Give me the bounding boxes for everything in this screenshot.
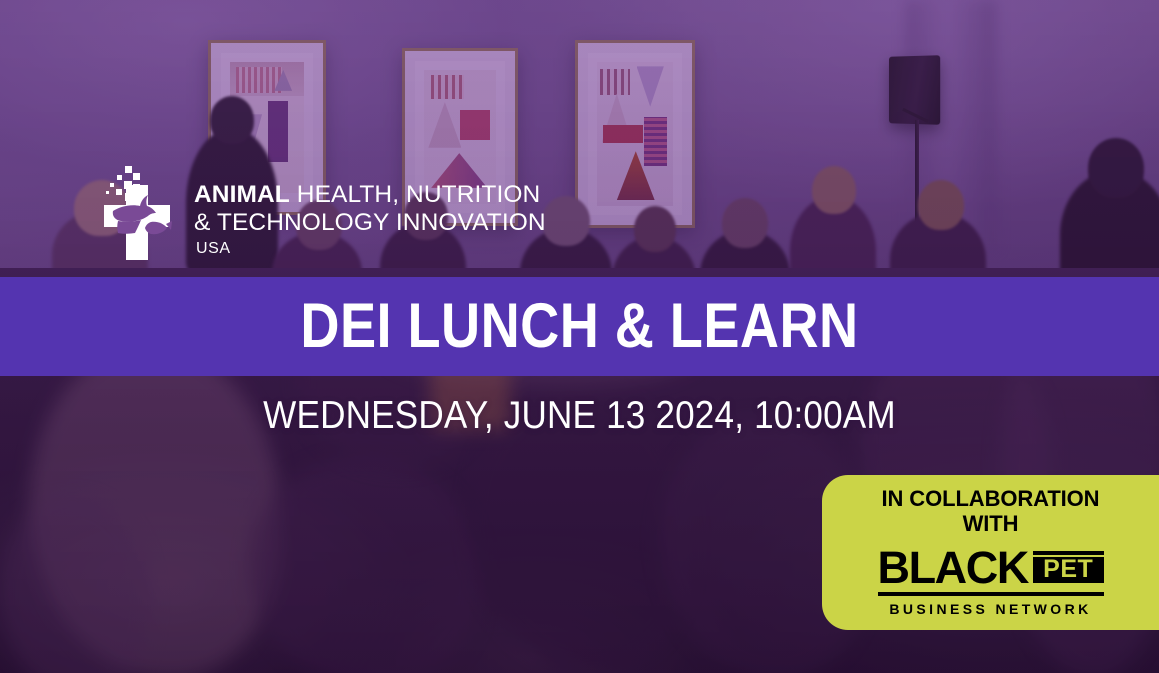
event-datetime: WEDNESDAY, JUNE 13 2024, 10:00AM: [58, 394, 1101, 438]
bp-logo-row: BLACK PET: [878, 546, 1104, 590]
bp-pet-box: PET: [1033, 557, 1104, 583]
animal-health-cross-logo-icon: [96, 164, 180, 260]
logo-line1-rest: HEALTH, NUTRITION: [290, 181, 540, 208]
logo-line-1: ANIMAL HEALTH, NUTRITION: [194, 183, 546, 208]
page-title: DEI LUNCH & LEARN: [300, 295, 858, 358]
logo-line-2: & TECHNOLOGY INNOVATION: [194, 211, 546, 236]
bp-tagline: BUSINESS NETWORK: [878, 601, 1104, 617]
logo-word-animal: ANIMAL: [194, 181, 290, 208]
bp-word-pet: PET: [1043, 557, 1093, 582]
logo-wordmark: ANIMAL HEALTH, NUTRITION & TECHNOLOGY IN…: [194, 164, 546, 257]
title-banner: DEI LUNCH & LEARN: [0, 277, 1159, 376]
black-pet-business-network-logo: BLACK PET BUSINESS NETWORK: [878, 546, 1104, 617]
bp-pet-group: PET: [1033, 546, 1104, 590]
collaboration-label-line2: WITH: [882, 512, 1100, 537]
event-poster: ANIMAL HEALTH, NUTRITION & TECHNOLOGY IN…: [0, 0, 1159, 673]
bp-word-black: BLACK: [878, 546, 1028, 590]
bp-top-bar: [1033, 551, 1104, 555]
event-logo: ANIMAL HEALTH, NUTRITION & TECHNOLOGY IN…: [96, 164, 546, 260]
collaboration-label-line1: IN COLLABORATION: [882, 487, 1100, 512]
collaboration-label: IN COLLABORATION WITH: [882, 487, 1100, 537]
collaboration-badge: IN COLLABORATION WITH BLACK PET BUSINESS…: [822, 475, 1159, 630]
logo-region: USA: [196, 241, 546, 257]
